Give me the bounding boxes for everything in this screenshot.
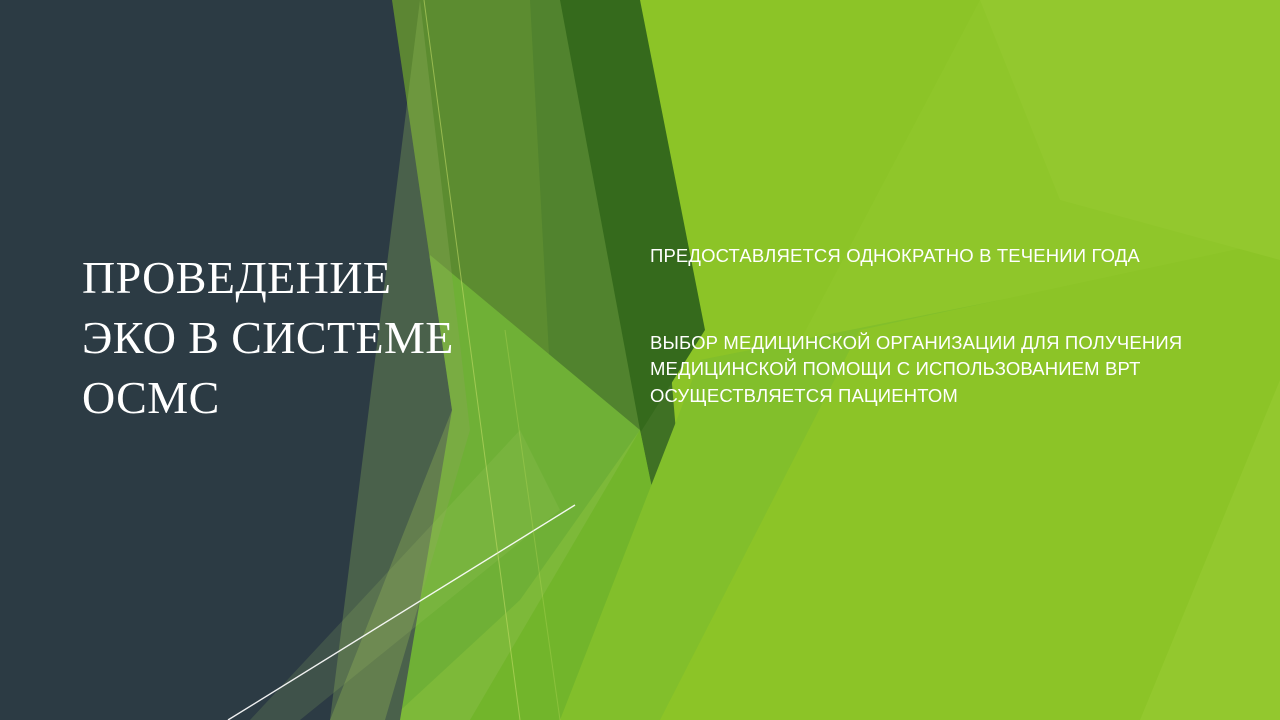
slide-title: ПРОВЕДЕНИЕ ЭКО В СИСТЕМЕ ОСМС: [82, 248, 482, 427]
slide-title-block: ПРОВЕДЕНИЕ ЭКО В СИСТЕМЕ ОСМС: [82, 248, 482, 427]
body-paragraph-1: ПРЕДОСТАВЛЯЕТСЯ ОДНОКРАТНО В ТЕЧЕНИИ ГОД…: [650, 243, 1190, 270]
body-paragraph-2: ВЫБОР МЕДИЦИНСКОЙ ОРГАНИЗАЦИИ ДЛЯ ПОЛУЧЕ…: [650, 330, 1190, 410]
slide-body-block: ПРЕДОСТАВЛЯЕТСЯ ОДНОКРАТНО В ТЕЧЕНИИ ГОД…: [650, 243, 1190, 410]
presentation-slide: ПРОВЕДЕНИЕ ЭКО В СИСТЕМЕ ОСМС ПРЕДОСТАВЛ…: [0, 0, 1280, 720]
